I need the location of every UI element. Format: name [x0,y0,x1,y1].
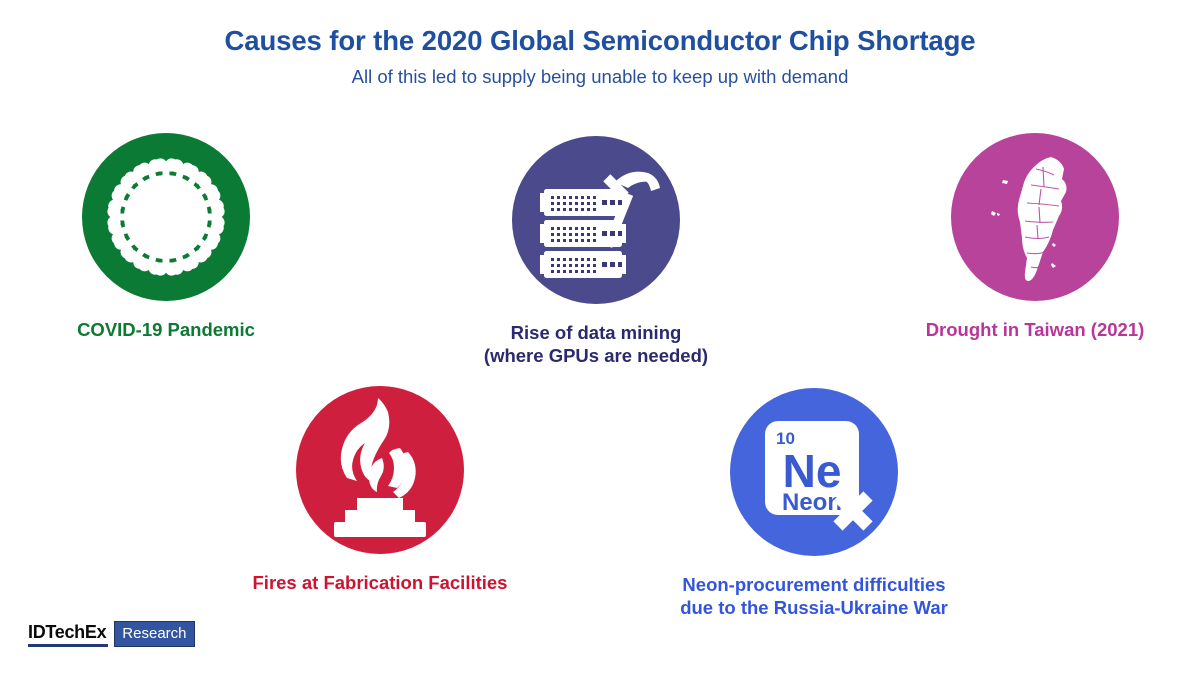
page-subtitle: All of this led to supply being unable t… [0,67,1200,87]
cause-card-neon: 10 Ne Neon Neon-procurement difficulties… [664,388,964,620]
badge-covid [82,133,250,301]
neon-element-unavailable-icon: 10 Ne Neon [730,388,898,556]
coronavirus-icon [82,133,250,301]
cause-card-data-mining: Rise of data mining (where GPUs are need… [446,136,746,368]
badge-data-mining [512,136,680,304]
cause-caption-taiwan: Drought in Taiwan (2021) [885,318,1185,341]
cause-caption-data-mining: Rise of data mining (where GPUs are need… [446,321,746,368]
badge-taiwan [951,133,1119,301]
idtechex-research-logo: IDTechEx Research [28,621,195,647]
badge-fires [296,386,464,554]
logo-research-tag: Research [114,621,194,647]
element-name: Neon [782,489,842,516]
cause-card-covid: COVID-19 Pandemic [16,133,316,341]
cause-card-taiwan: Drought in Taiwan (2021) [885,133,1185,341]
cause-caption-covid: COVID-19 Pandemic [16,318,316,341]
fire-icon [296,386,464,554]
badge-neon: 10 Ne Neon [730,388,898,556]
infographic-header: Causes for the 2020 Global Semiconductor… [0,26,1200,88]
cause-caption-fires: Fires at Fabrication Facilities [230,571,530,594]
logo-brand-text: IDTechEx [28,621,108,647]
page-title: Causes for the 2020 Global Semiconductor… [0,26,1200,56]
cause-card-fires: Fires at Fabrication Facilities [230,386,530,594]
server-rack-part [540,189,626,278]
taiwan-map-icon [951,133,1119,301]
cause-caption-neon: Neon-procurement difficulties due to the… [664,573,964,620]
server-rack-pickaxe-icon [512,136,680,304]
